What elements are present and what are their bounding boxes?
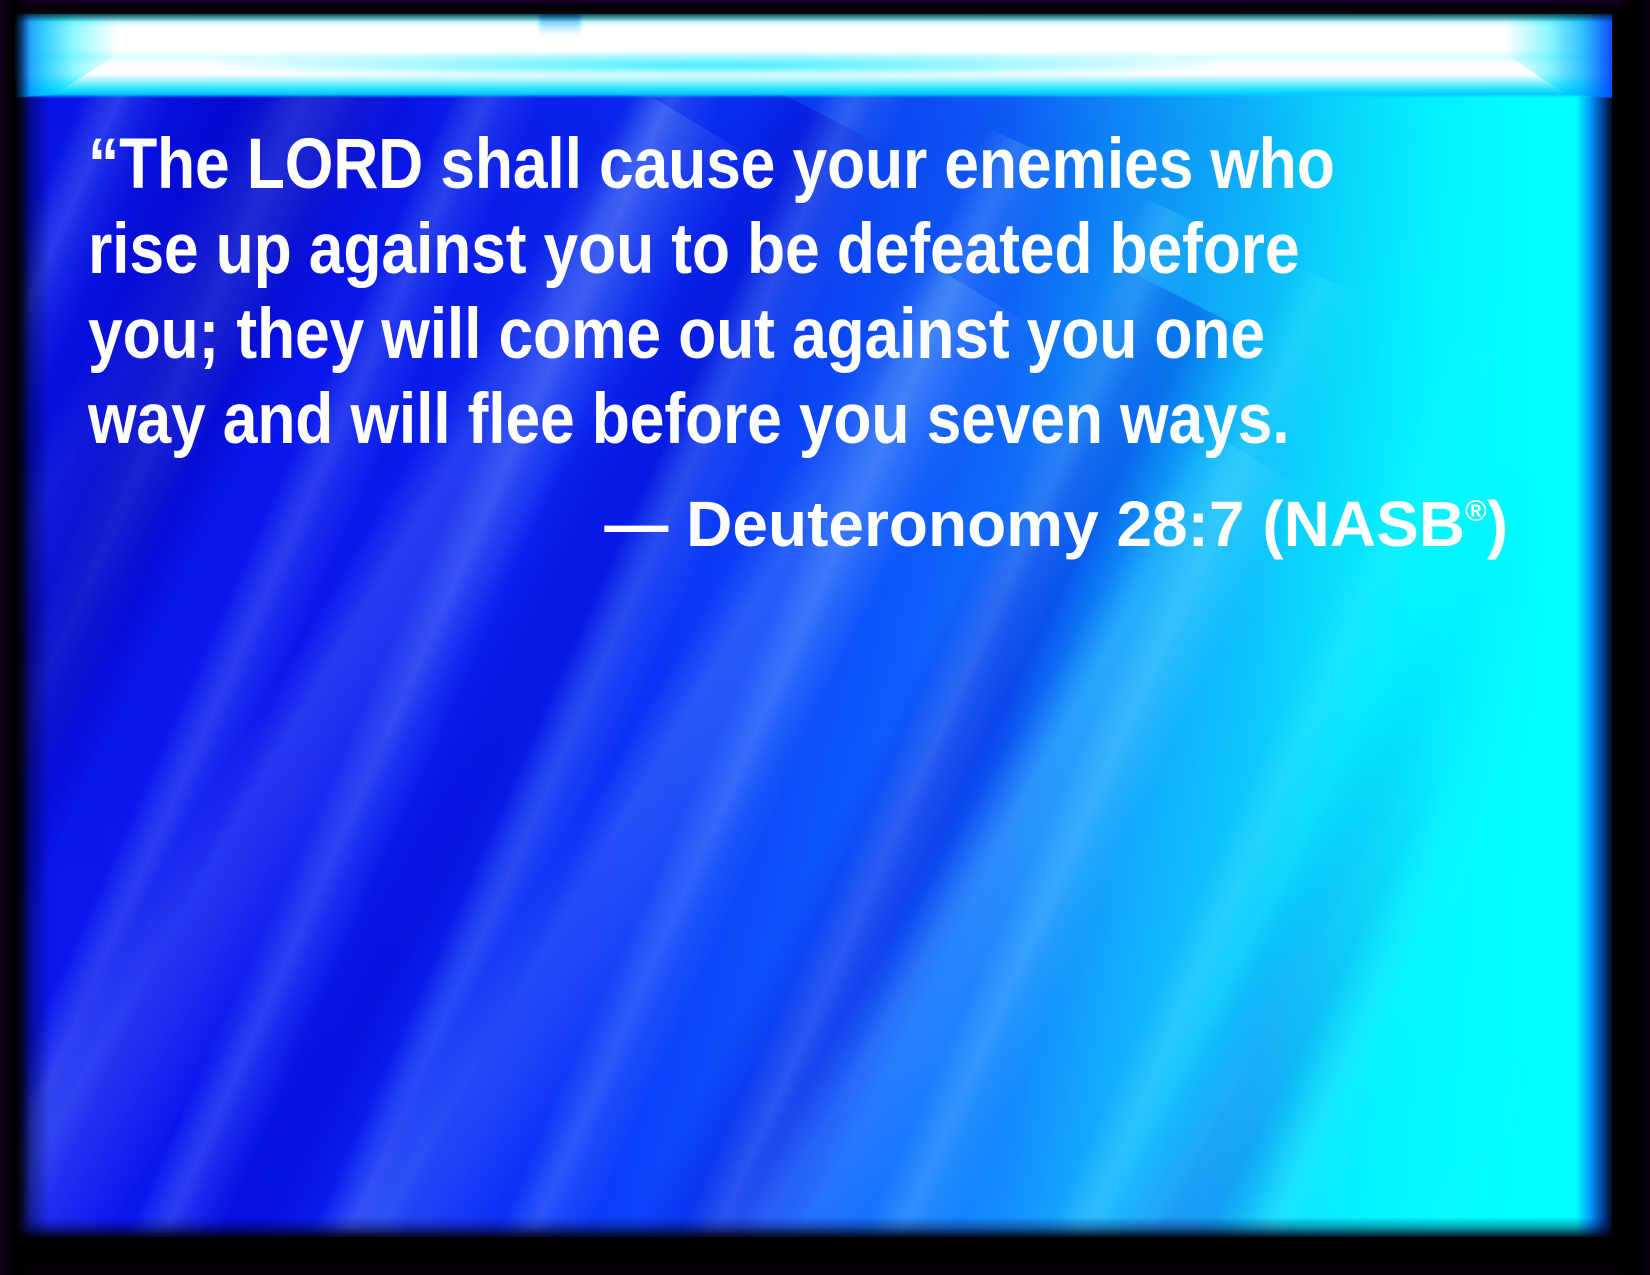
- attribution-chapter-verse: 28:7: [1116, 488, 1244, 560]
- attribution-translation-open: (NASB: [1262, 488, 1465, 560]
- slide-frame: “The LORD shall cause your enemies who r…: [0, 0, 1650, 1275]
- verse-text-block: “The LORD shall cause your enemies who r…: [88, 122, 1508, 462]
- attribution-book: Deuteronomy: [686, 488, 1099, 560]
- verse-line-1: “The LORD shall cause your enemies who: [88, 122, 1338, 207]
- slide-stage: “The LORD shall cause your enemies who r…: [10, 10, 1612, 1237]
- registered-trademark-icon: ®: [1465, 495, 1487, 528]
- verse-attribution: — Deuteronomy 28:7 (NASB®): [88, 470, 1508, 566]
- attribution-spacer-2: [1099, 488, 1117, 560]
- verse-line-2: rise up against you to be defeated befor…: [88, 207, 1338, 292]
- attribution-translation-close: ): [1487, 488, 1508, 560]
- verse-line-4: way and will flee before you seven ways.: [88, 377, 1338, 462]
- verse-line-3: you; they will come out against you one: [88, 292, 1338, 377]
- attribution-spacer: [668, 488, 686, 560]
- attribution-em-dash: —: [604, 488, 668, 560]
- attribution-spacer-3: [1245, 488, 1263, 560]
